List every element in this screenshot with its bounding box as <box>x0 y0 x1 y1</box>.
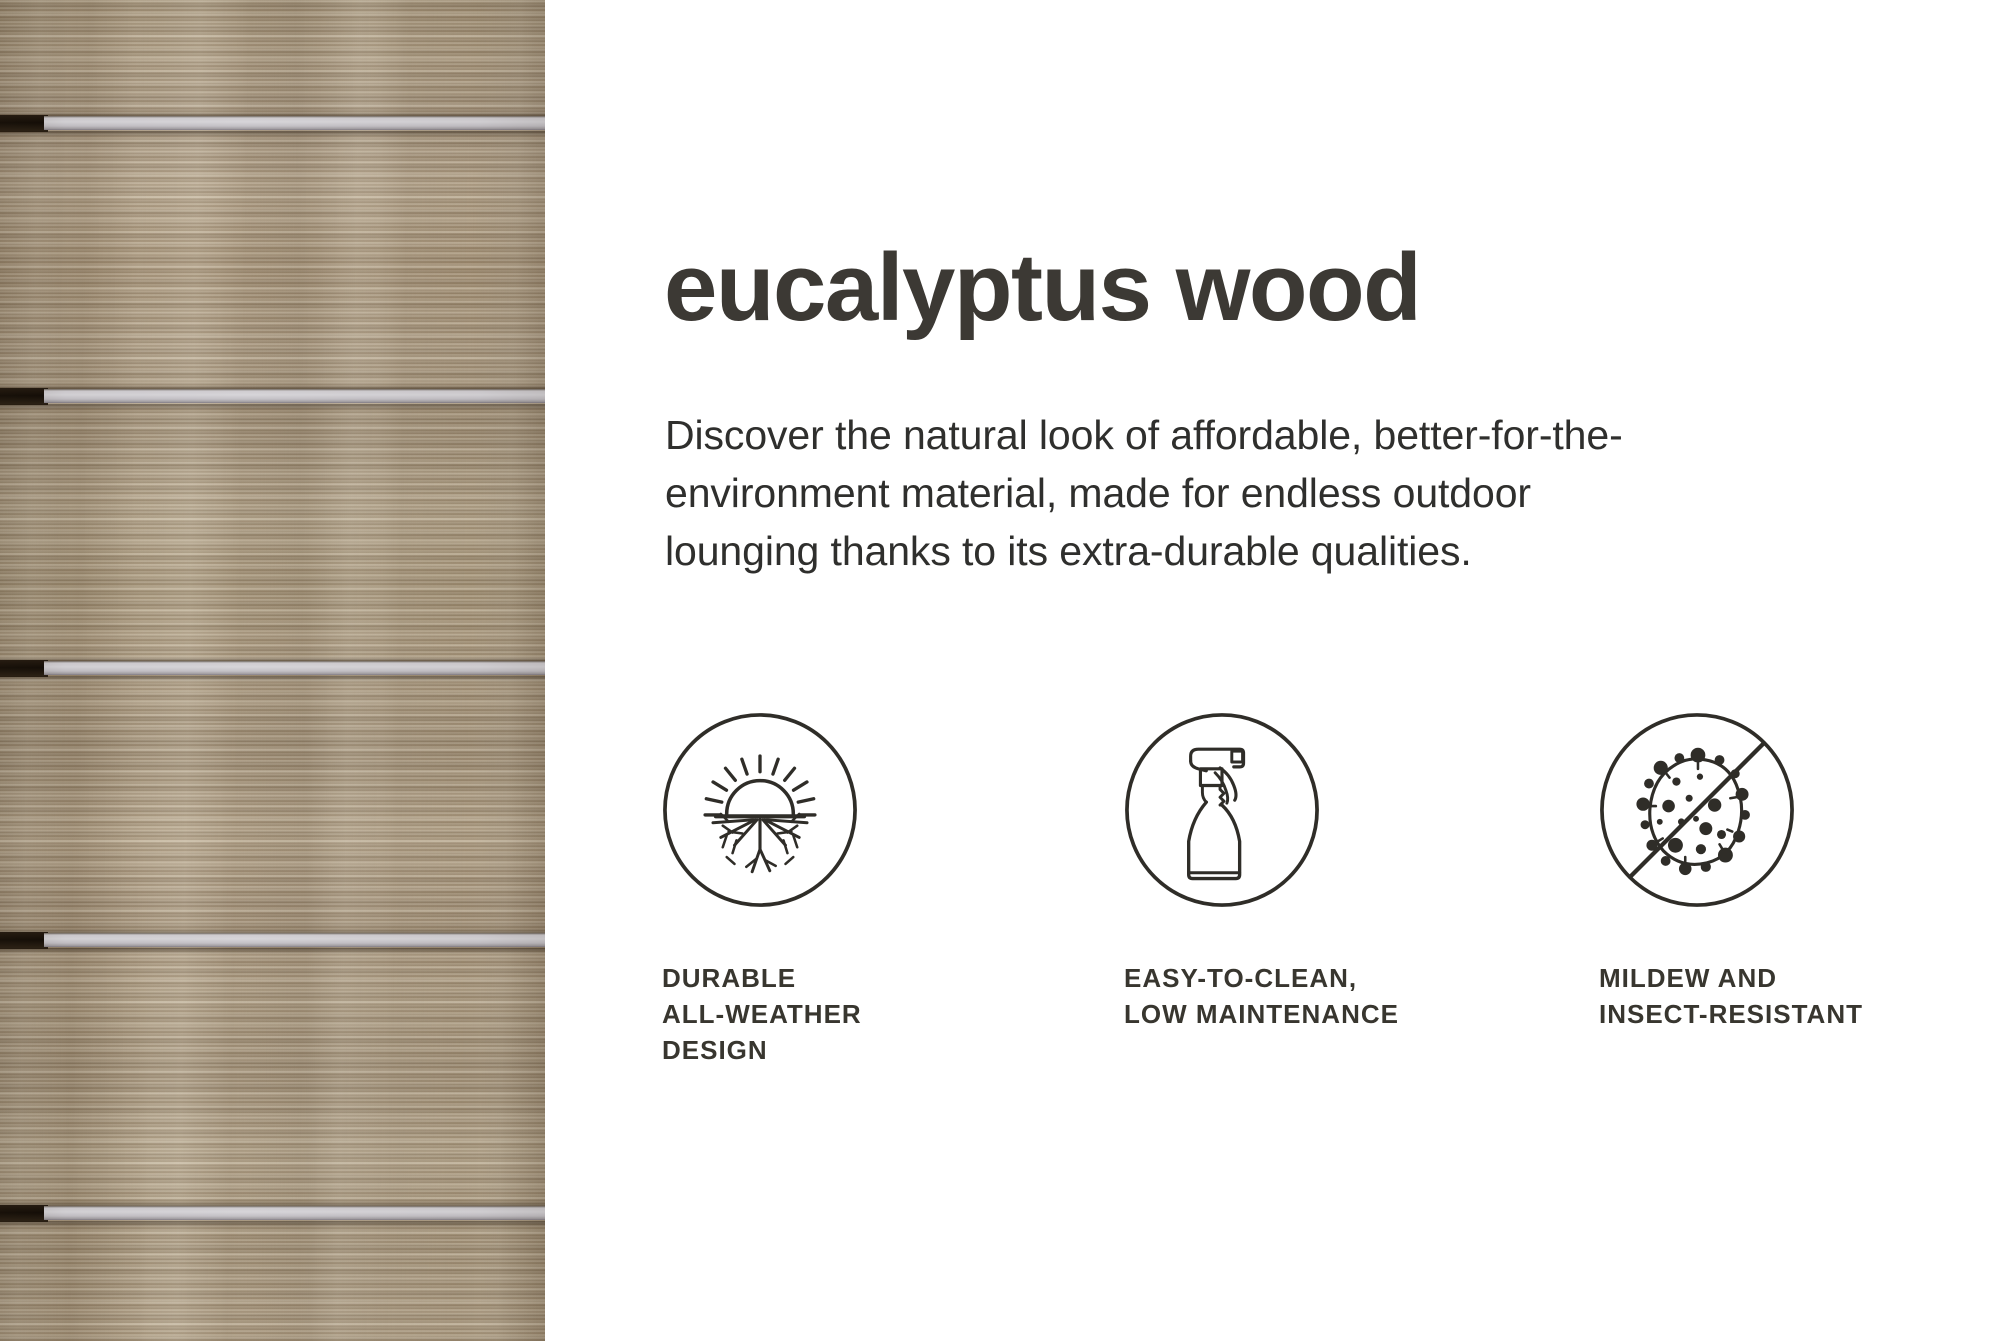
feature-label: MILDEW AND INSECT-RESISTANT <box>1587 908 1917 1033</box>
feature-item: MILDEW AND INSECT-RESISTANT <box>1587 712 1917 1033</box>
description-text: Discover the natural look of affordable,… <box>665 406 1625 581</box>
sun-over-roots-icon <box>662 712 858 908</box>
feature-item: EASY-TO-CLEAN, LOW MAINTENANCE <box>1124 712 1454 1033</box>
spray-bottle-icon <box>1124 712 1320 908</box>
feature-label: DURABLE ALL-WEATHER DESIGN <box>662 908 992 1069</box>
wood-vignette <box>0 0 545 1341</box>
feature-label: EASY-TO-CLEAN, LOW MAINTENANCE <box>1124 908 1454 1033</box>
content-column: eucalyptus wood Discover the natural loo… <box>545 0 2010 1341</box>
eucalyptus-wood-feature-panel: eucalyptus wood Discover the natural loo… <box>0 0 2010 1341</box>
page-title: eucalyptus wood <box>664 240 1420 336</box>
feature-list: DURABLE ALL-WEATHER DESIGN <box>662 712 2002 1132</box>
no-mildew-insect-icon <box>1599 712 1795 908</box>
wood-texture-image <box>0 0 545 1341</box>
feature-item: DURABLE ALL-WEATHER DESIGN <box>662 712 992 1069</box>
